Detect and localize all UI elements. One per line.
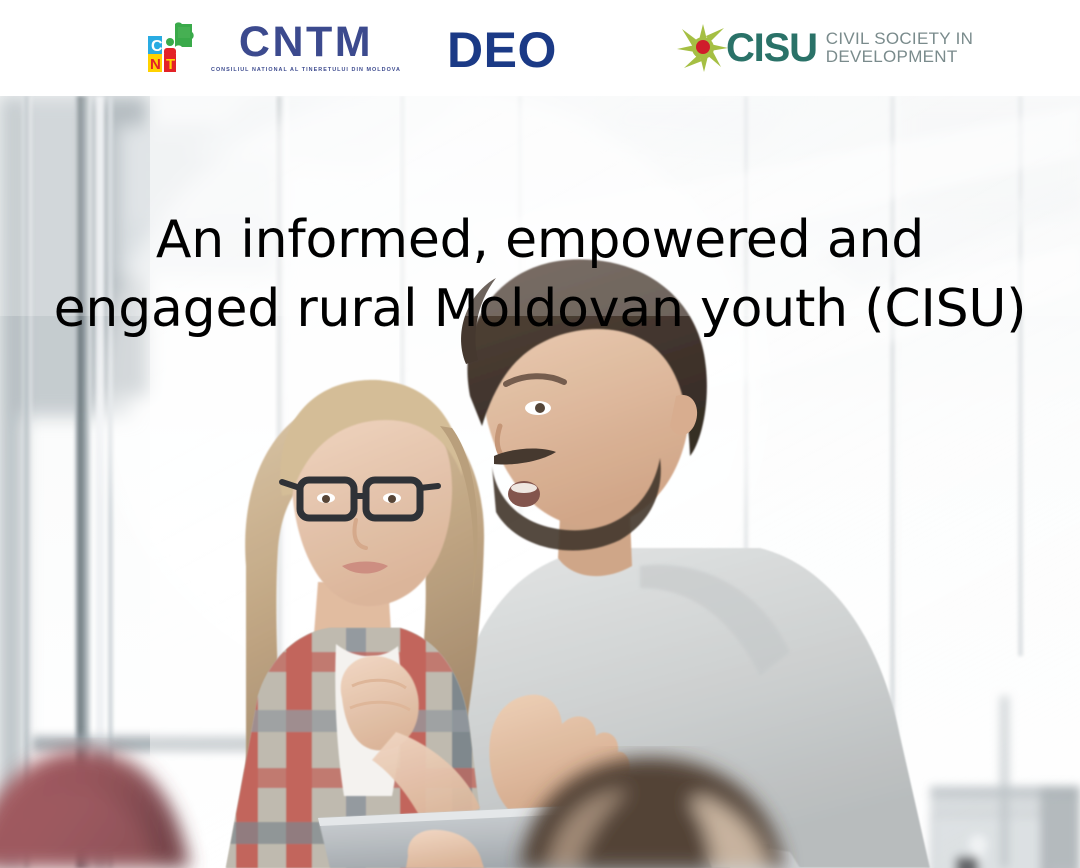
logo-cntm: C N T CNTM CONSILIUL NATIONAL AL TINERET… [142, 18, 401, 76]
puzzle-pieces-icon: C N T [142, 18, 204, 76]
logo-deo: DEO [447, 25, 557, 75]
puzzle-pieces-svg: C N T [142, 18, 204, 76]
cntm-tagline: CONSILIUL NATIONAL AL TINERETULUI DIN MO… [211, 67, 401, 73]
headline-line-2: engaged rural Moldovan youth (CISU) [18, 275, 1062, 344]
cisu-wordmark: CISU [726, 28, 817, 68]
starburst-icon [676, 22, 730, 74]
slide-root: An informed, empowered and engaged rural… [0, 0, 1080, 868]
svg-text:C: C [151, 38, 163, 55]
logo-cisu: CISU CIVIL SOCIETY IN DEVELOPMENT [676, 22, 973, 74]
svg-text:N: N [150, 56, 161, 73]
svg-text:T: T [166, 56, 175, 73]
cisu-tagline-line-2: DEVELOPMENT [826, 48, 973, 66]
cisu-tagline: CIVIL SOCIETY IN DEVELOPMENT [826, 30, 973, 66]
cntm-text: CNTM CONSILIUL NATIONAL AL TINERETULUI D… [211, 21, 401, 73]
partner-logo-band: C N T CNTM CONSILIUL NATIONAL AL TINERET… [0, 0, 1080, 96]
headline-line-1: An informed, empowered and [18, 206, 1062, 275]
cntm-wordmark: CNTM [239, 21, 373, 64]
starburst-svg [676, 22, 730, 74]
slide-headline: An informed, empowered and engaged rural… [0, 206, 1080, 344]
deo-wordmark: DEO [447, 25, 557, 75]
cisu-tagline-line-1: CIVIL SOCIETY IN [826, 30, 973, 48]
